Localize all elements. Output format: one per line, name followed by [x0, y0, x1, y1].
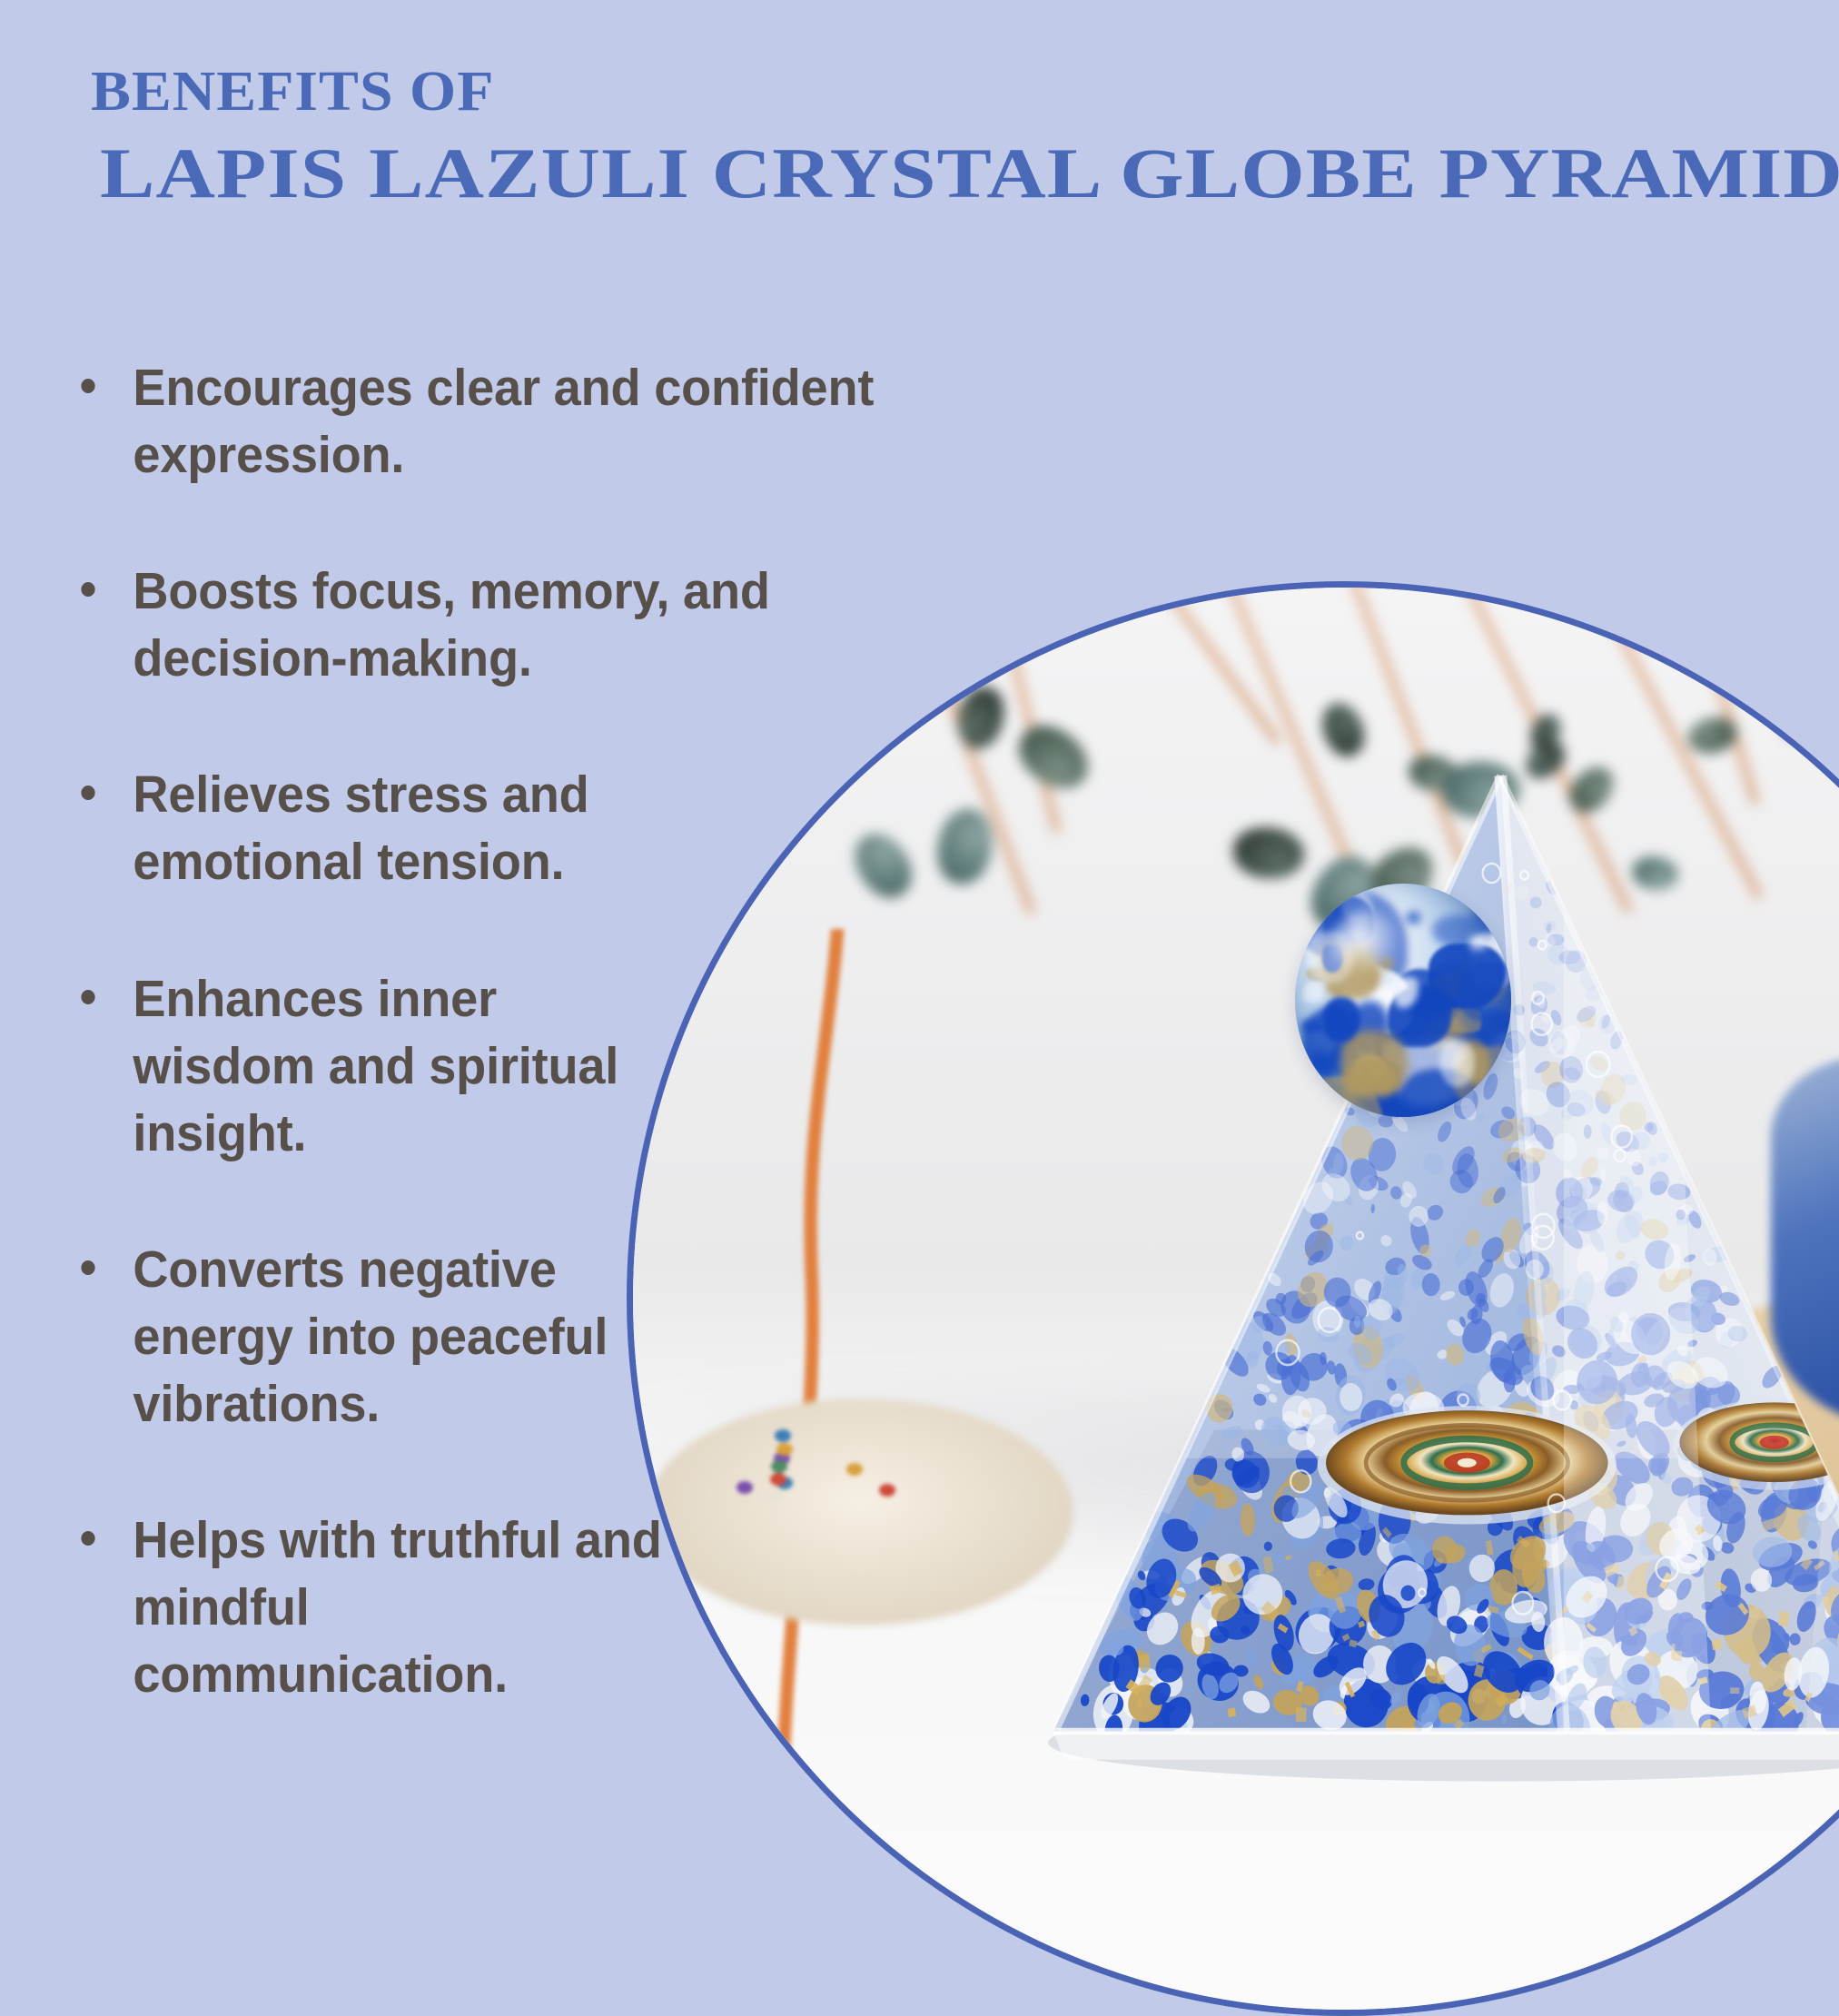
- lapis-lazuli-sphere: [1295, 884, 1511, 1117]
- bullet-dot-icon: [81, 582, 94, 597]
- benefit-text: Boosts focus, memory, and decision-makin…: [133, 562, 769, 687]
- benefit-text: Helps with truthful and mindful communic…: [133, 1511, 661, 1704]
- sphere-mottle: [1469, 935, 1488, 950]
- benefit-text: Enhances inner wisdom and spiritual insi…: [133, 970, 618, 1162]
- page-title: BENEFITS OF LAPIS LAZULI CRYSTAL GLOBE P…: [91, 64, 1798, 209]
- list-item: Relieves stress and emotional tension.: [71, 761, 737, 895]
- benefit-text: Converts negative energy into peaceful v…: [133, 1240, 608, 1433]
- sphere-highlight: [1330, 912, 1403, 977]
- sphere-mottle: [1459, 963, 1510, 1023]
- list-item: Enhances inner wisdom and spiritual insi…: [71, 965, 685, 1167]
- benefit-text: Relieves stress and emotional tension.: [133, 766, 588, 891]
- list-item: Boosts focus, memory, and decision-makin…: [71, 558, 985, 692]
- title-line-benefits-of: BENEFITS OF: [91, 64, 1839, 120]
- list-item: Converts negative energy into peaceful v…: [71, 1236, 685, 1438]
- bullet-dot-icon: [81, 786, 94, 800]
- benefits-list: Encourages clear and confident expressio…: [71, 354, 1033, 1777]
- benefit-text: Encourages clear and confident expressio…: [133, 359, 874, 484]
- sphere-mottle: [1439, 1040, 1475, 1087]
- sphere-mottle: [1346, 1057, 1398, 1093]
- bullet-dot-icon: [81, 379, 94, 393]
- bullet-dot-icon: [81, 1260, 94, 1275]
- title-line-product-name: LAPIS LAZULI CRYSTAL GLOBE PYRAMID: [100, 138, 1839, 209]
- bullet-dot-icon: [81, 1531, 94, 1546]
- lapis-lazuli-orgonite-pyramid: [974, 730, 1839, 1868]
- bullet-dot-icon: [81, 990, 94, 1004]
- gem-branch: [1093, 588, 1282, 746]
- sphere-mottle: [1303, 982, 1322, 1003]
- sphere-mottle: [1406, 912, 1420, 924]
- list-item: Encourages clear and confident expressio…: [71, 354, 985, 489]
- list-item: Helps with truthful and mindful communic…: [71, 1507, 685, 1708]
